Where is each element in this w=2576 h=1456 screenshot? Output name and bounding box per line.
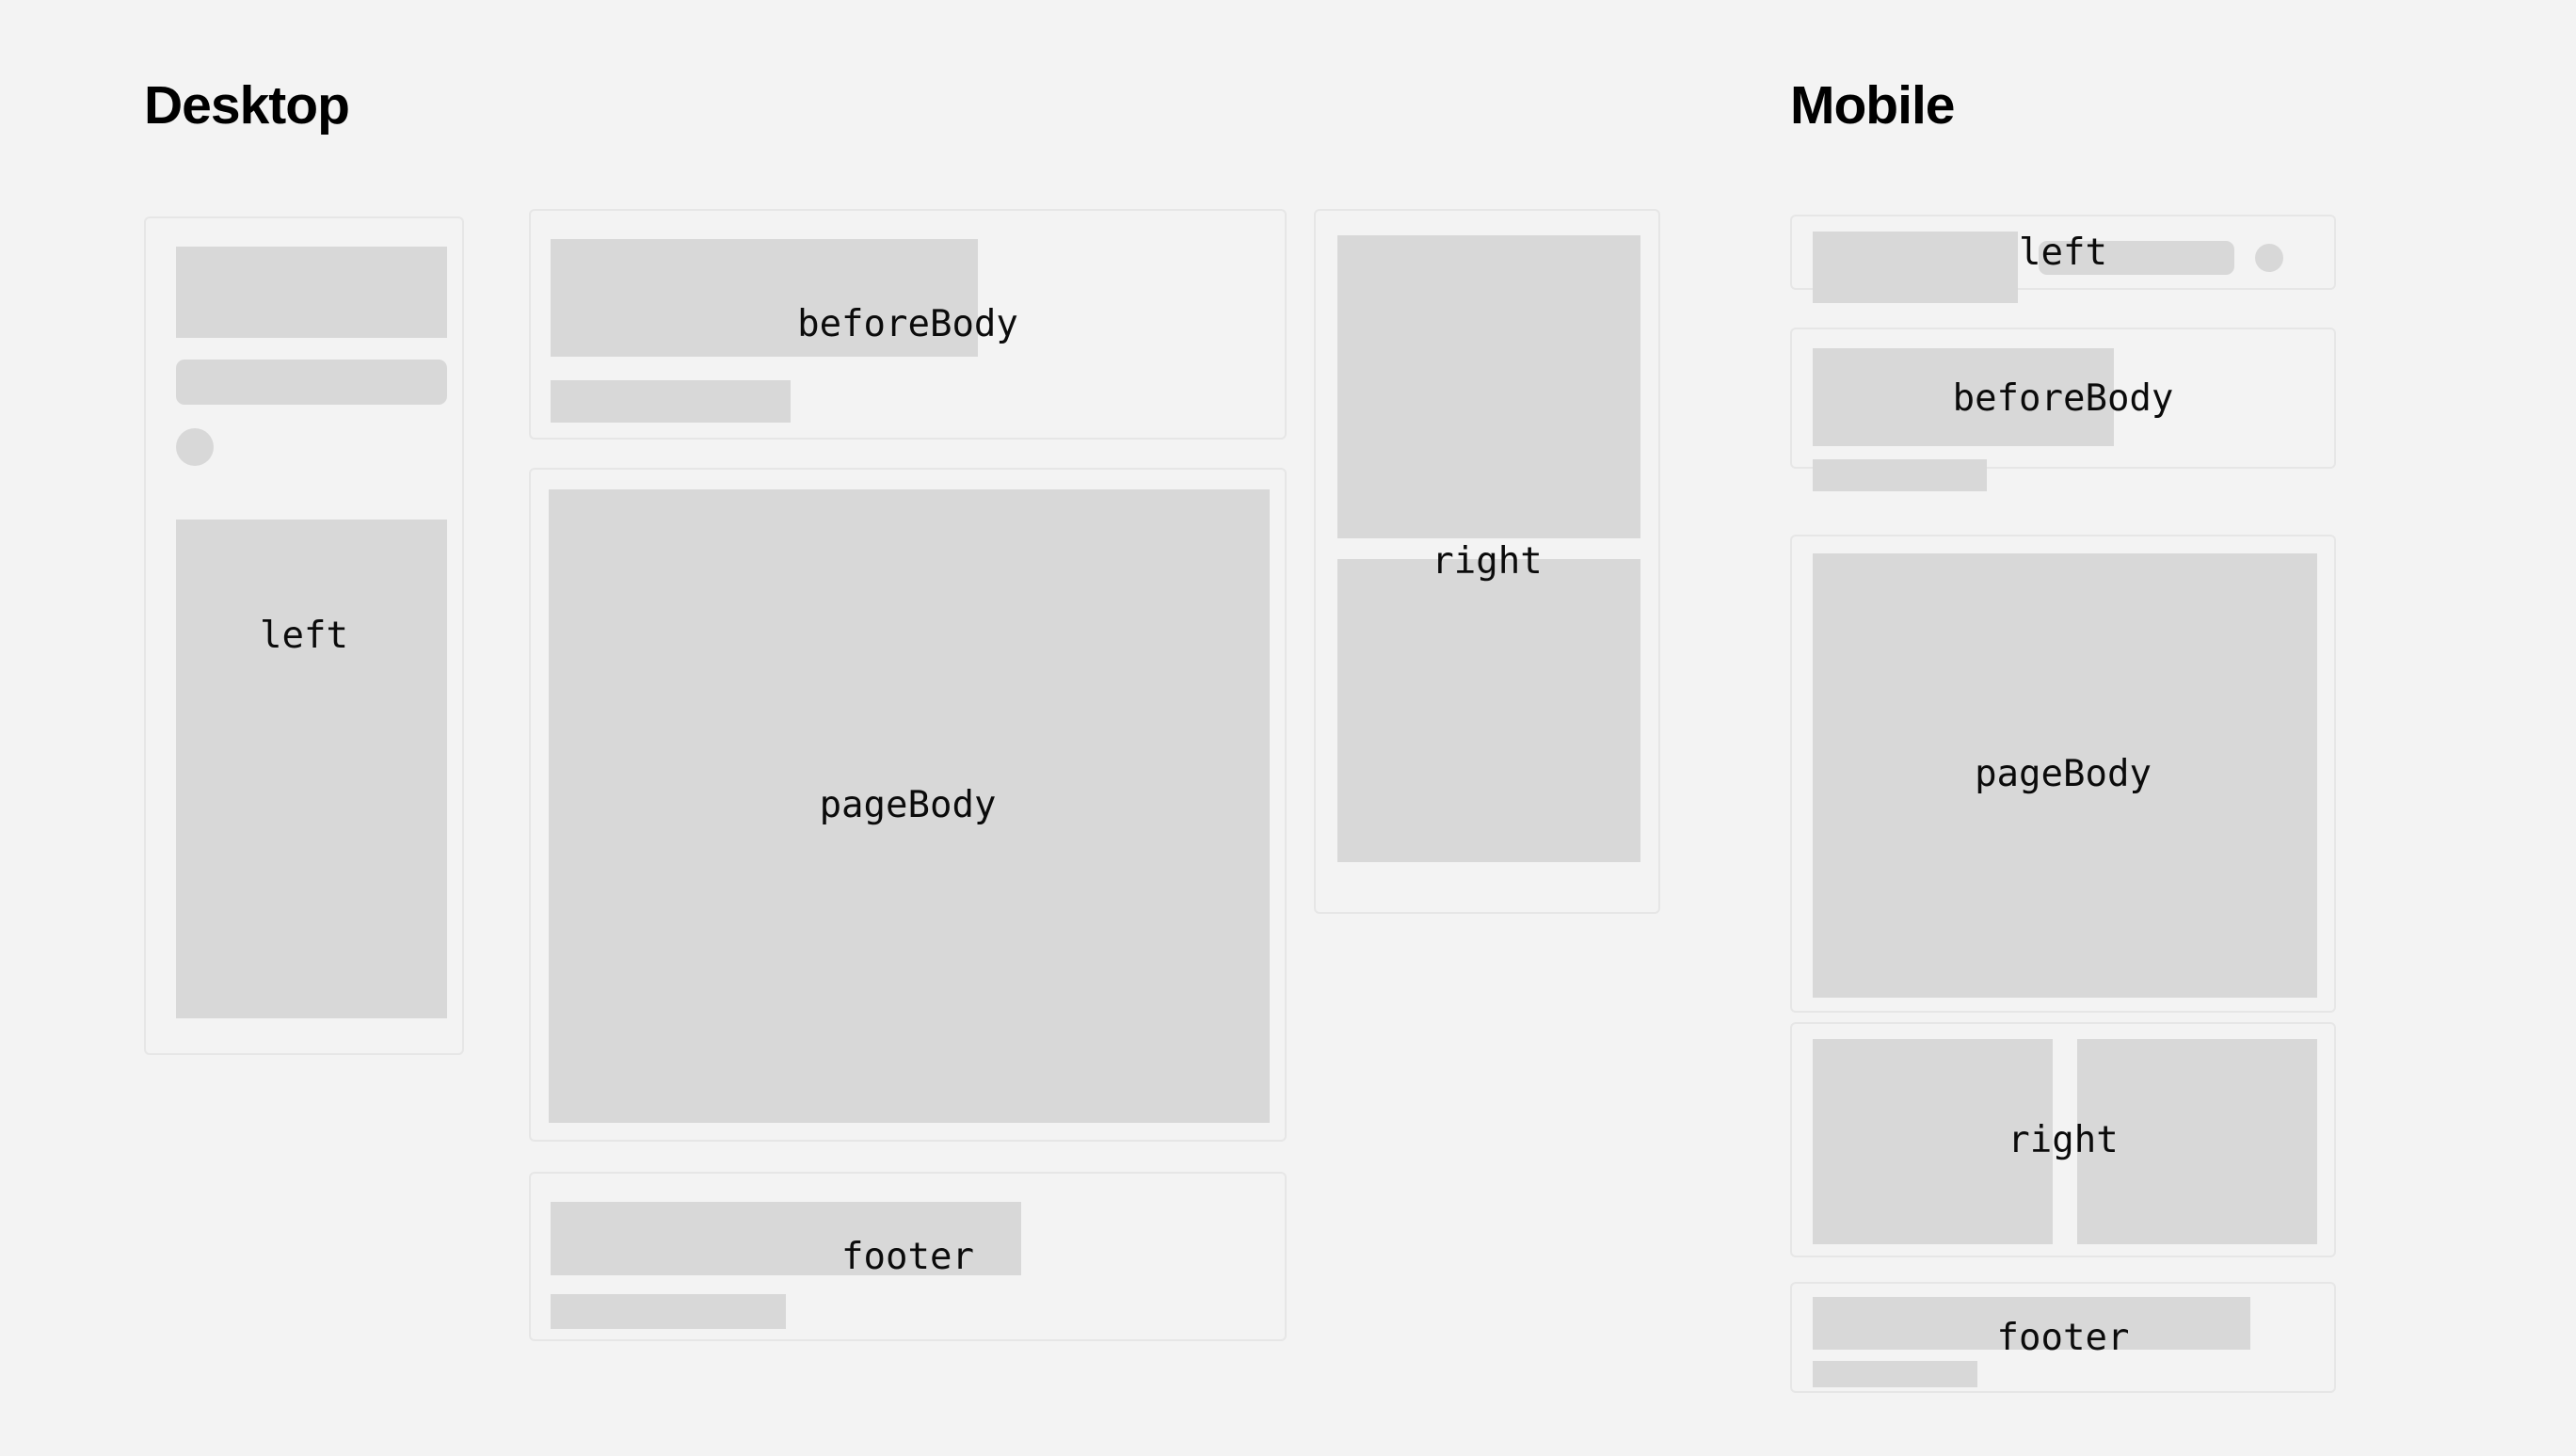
skeleton-block (549, 489, 1270, 1123)
desktop-slot-right[interactable]: right (1314, 209, 1660, 914)
desktop-slot-left[interactable]: left (144, 216, 464, 1055)
skeleton-block (1813, 1039, 2053, 1244)
skeleton-avatar-circle (176, 428, 214, 466)
skeleton-block (1813, 553, 2317, 998)
skeleton-block (1813, 1297, 2250, 1350)
skeleton-block (1813, 348, 2114, 446)
skeleton-bar (176, 360, 447, 405)
skeleton-bar (551, 1294, 786, 1329)
skeleton-block (1337, 235, 1640, 538)
mobile-slot-beforebody[interactable]: beforeBody (1790, 328, 2336, 469)
skeleton-block (1337, 559, 1640, 862)
desktop-slot-beforebody[interactable]: beforeBody (529, 209, 1287, 440)
skeleton-block (176, 247, 447, 338)
desktop-slot-pagebody[interactable]: pageBody (529, 468, 1287, 1142)
skeleton-block (1813, 232, 2018, 303)
layout-preview-stage: Desktop left beforeBody pageBody right f… (0, 0, 2576, 1456)
skeleton-block (2077, 1039, 2317, 1244)
skeleton-block (551, 239, 978, 357)
skeleton-block (551, 1202, 1021, 1275)
skeleton-bar (1813, 1361, 1977, 1387)
skeleton-block (176, 520, 447, 1018)
desktop-slot-footer[interactable]: footer (529, 1172, 1287, 1341)
mobile-slot-left[interactable]: left (1790, 215, 2336, 290)
mobile-slot-right[interactable]: right (1790, 1022, 2336, 1257)
skeleton-bar (551, 380, 791, 423)
skeleton-avatar-circle (2255, 244, 2283, 272)
desktop-section-title: Desktop (144, 79, 349, 133)
skeleton-bar (2039, 241, 2234, 275)
mobile-slot-pagebody[interactable]: pageBody (1790, 535, 2336, 1013)
skeleton-bar (1813, 459, 1987, 491)
mobile-section-title: Mobile (1790, 79, 1955, 133)
mobile-slot-footer[interactable]: footer (1790, 1282, 2336, 1393)
